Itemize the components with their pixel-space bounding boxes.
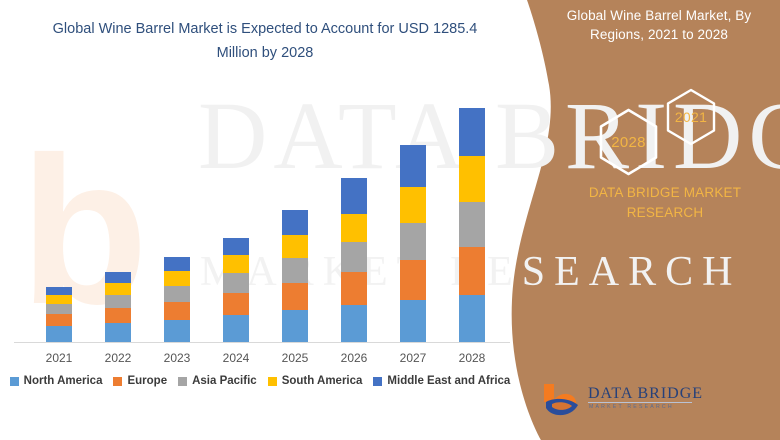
bar-segment[interactable]: [400, 145, 426, 187]
bar-segment[interactable]: [400, 260, 426, 300]
logo-tagline: MARKET RESEARCH: [589, 404, 674, 410]
x-tick-2024: 2024: [206, 351, 266, 365]
bar-segment[interactable]: [164, 271, 190, 286]
logo-mark-icon: [540, 380, 586, 420]
bar-segment[interactable]: [341, 178, 367, 214]
bar-segment[interactable]: [105, 272, 131, 283]
x-tick-2027: 2027: [383, 351, 443, 365]
hexagon-2028: 2028: [597, 107, 660, 177]
logo-name: DATA BRIDGE: [588, 385, 703, 403]
x-axis-line: [14, 342, 510, 343]
bar-segment[interactable]: [282, 258, 308, 283]
bar-segment[interactable]: [46, 326, 72, 342]
bar-segment[interactable]: [341, 305, 367, 342]
legend-label: Asia Pacific: [192, 375, 257, 387]
bar-segment[interactable]: [223, 315, 249, 342]
bar-2027[interactable]: [400, 145, 426, 342]
bar-segment[interactable]: [400, 223, 426, 260]
legend-item[interactable]: Europe: [113, 375, 167, 387]
bar-segment[interactable]: [341, 242, 367, 272]
bar-segment[interactable]: [223, 293, 249, 315]
legend-item[interactable]: Asia Pacific: [178, 375, 257, 387]
bar-segment[interactable]: [105, 323, 131, 342]
bar-segment[interactable]: [459, 156, 485, 202]
bar-segment[interactable]: [46, 287, 72, 295]
page-title: Global Wine Barrel Market is Expected to…: [50, 17, 480, 65]
bar-2024[interactable]: [223, 238, 249, 342]
bar-segment[interactable]: [105, 295, 131, 308]
bar-segment[interactable]: [459, 202, 485, 247]
bar-segment[interactable]: [282, 283, 308, 310]
legend-label: Middle East and Africa: [387, 375, 510, 387]
hexagon-2021-label: 2021: [664, 109, 718, 125]
infographic-root: b DATA BRIDGE MARKET RESEARCH Global Win…: [0, 0, 780, 440]
bar-2023[interactable]: [164, 257, 190, 342]
bar-segment[interactable]: [400, 300, 426, 342]
x-tick-2025: 2025: [265, 351, 325, 365]
legend-swatch-icon: [10, 377, 19, 386]
panel-brand-text: DATA BRIDGE MARKET RESEARCH: [560, 183, 770, 223]
bar-segment[interactable]: [164, 286, 190, 302]
bar-segment[interactable]: [341, 272, 367, 305]
bar-segment[interactable]: [164, 320, 190, 342]
bar-segment[interactable]: [459, 295, 485, 342]
legend-item[interactable]: North America: [10, 375, 103, 387]
bar-2026[interactable]: [341, 178, 367, 342]
legend-item[interactable]: Middle East and Africa: [373, 375, 510, 387]
bar-segment[interactable]: [282, 235, 308, 258]
bar-segment[interactable]: [223, 238, 249, 255]
bar-2028[interactable]: [459, 108, 485, 342]
bar-segment[interactable]: [105, 308, 131, 323]
bar-segment[interactable]: [46, 304, 72, 314]
legend-item[interactable]: South America: [268, 375, 363, 387]
bar-2022[interactable]: [105, 272, 131, 342]
legend-swatch-icon: [373, 377, 382, 386]
chart-legend: North AmericaEuropeAsia PacificSouth Ame…: [0, 375, 520, 387]
legend-label: Europe: [127, 375, 167, 387]
bar-segment[interactable]: [223, 255, 249, 273]
panel-title: Global Wine Barrel Market, By Regions, 2…: [545, 6, 773, 44]
bar-segment[interactable]: [46, 295, 72, 304]
bar-segment[interactable]: [105, 283, 131, 295]
legend-swatch-icon: [113, 377, 122, 386]
bar-2025[interactable]: [282, 210, 308, 342]
bar-segment[interactable]: [223, 273, 249, 293]
bar-2021[interactable]: [46, 287, 72, 342]
panel-brand-line1: DATA BRIDGE MARKET: [560, 183, 770, 203]
bar-segment[interactable]: [282, 210, 308, 235]
bar-segment[interactable]: [459, 247, 485, 295]
x-tick-2028: 2028: [442, 351, 502, 365]
legend-label: North America: [24, 375, 103, 387]
x-tick-2022: 2022: [88, 351, 148, 365]
company-logo: DATA BRIDGE MARKET RESEARCH: [540, 380, 700, 422]
bar-segment[interactable]: [164, 257, 190, 271]
bar-segment[interactable]: [282, 310, 308, 342]
x-tick-2021: 2021: [29, 351, 89, 365]
bar-segment[interactable]: [400, 187, 426, 223]
x-tick-2023: 2023: [147, 351, 207, 365]
bar-segment[interactable]: [341, 214, 367, 242]
legend-swatch-icon: [268, 377, 277, 386]
legend-swatch-icon: [178, 377, 187, 386]
legend-label: South America: [282, 375, 363, 387]
x-tick-2026: 2026: [324, 351, 384, 365]
hexagon-2028-label: 2028: [597, 134, 660, 151]
bar-segment[interactable]: [46, 314, 72, 326]
bar-segment[interactable]: [459, 108, 485, 156]
panel-brand-line2: RESEARCH: [560, 203, 770, 223]
hexagon-2021: 2021: [664, 87, 718, 147]
bar-segment[interactable]: [164, 302, 190, 320]
